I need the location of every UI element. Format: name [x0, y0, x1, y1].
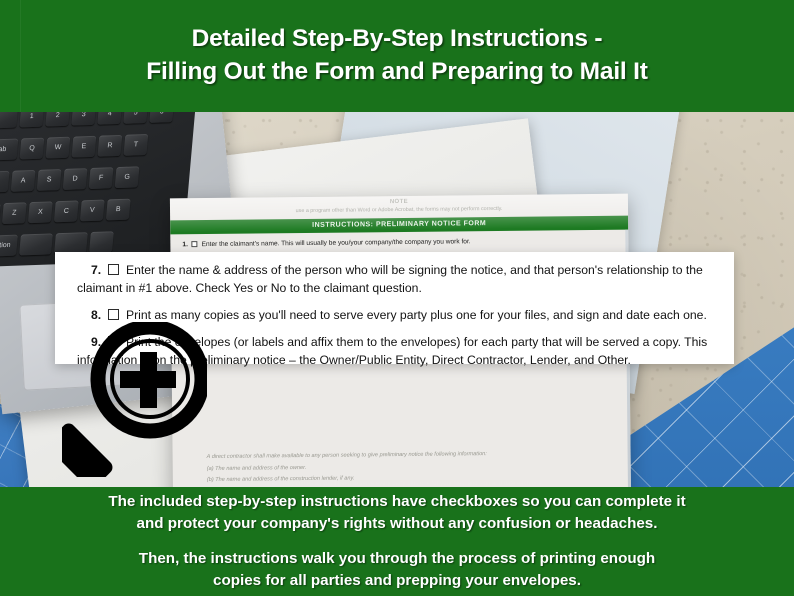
step-number: 7. [91, 263, 101, 277]
key-c: C [54, 200, 79, 222]
checkbox-icon[interactable] [108, 309, 119, 320]
bottom-banner: The included step-by-step instructions h… [0, 487, 794, 596]
document-note-body: use a program other than Word or Adobe A… [170, 203, 628, 217]
callout-step: 7. Enter the name & address of the perso… [77, 261, 716, 297]
key-d: D [63, 168, 88, 190]
key-x: X [28, 201, 53, 223]
step-text: Enter the claimant's name. This will usu… [202, 238, 471, 248]
key-command [19, 233, 53, 255]
key-e: E [71, 136, 96, 158]
document-step: 1. Enter the claimant's name. This will … [182, 235, 616, 250]
step-text: Print as many copies as you'll need to s… [126, 308, 707, 322]
key: 4 [97, 110, 122, 125]
key: 3 [71, 110, 96, 126]
step-text: Enter the name & address of the person w… [77, 263, 703, 295]
bottom-banner-line: copies for all parties and prepping your… [139, 570, 655, 592]
checkbox-icon[interactable] [108, 264, 119, 275]
laptop-keyboard: 1 2 3 4 5 6 tab Q W E R T lock A [0, 110, 197, 267]
keyboard-row-2: tab Q W E R T [0, 131, 197, 160]
key-v: V [80, 200, 105, 222]
keyboard-row-3: lock A S D F G [0, 164, 197, 193]
key-capslock: lock [0, 171, 10, 193]
callout-step: 9. Print the envelopes (or labels and af… [77, 333, 716, 369]
key-w: W [45, 137, 70, 159]
key-option: option [0, 235, 18, 257]
key-s: S [37, 169, 62, 191]
key-extra [89, 231, 114, 253]
step-number: 8. [91, 308, 101, 322]
key: 1 [19, 110, 44, 127]
key-tab: tab [0, 138, 18, 160]
callout-step: 8. Print as many copies as you'll need t… [77, 306, 716, 324]
key-q: Q [20, 138, 45, 160]
key-a: A [11, 170, 36, 192]
key-space [54, 232, 88, 254]
key-b: B [106, 199, 131, 221]
banner-seam [20, 0, 21, 112]
key-g: G [115, 166, 140, 188]
step-number: 9. [91, 335, 101, 349]
bottom-banner-line: Then, the instructions walk you through … [139, 548, 655, 570]
key: 5 [123, 110, 148, 124]
legal-line: A direct contractor shall make available… [207, 448, 619, 462]
top-banner-line-2: Filling Out the Form and Preparing to Ma… [146, 56, 647, 89]
key [0, 110, 18, 128]
checkbox-icon[interactable] [192, 241, 198, 247]
bottom-banner-paragraph-2: Then, the instructions walk you through … [139, 548, 655, 592]
key-z: Z [2, 202, 27, 224]
step-text: Print the envelopes (or labels and affix… [77, 335, 707, 367]
key-shift: ^ [0, 203, 1, 225]
promo-graphic: 1 2 3 4 5 6 tab Q W E R T lock A [0, 0, 794, 596]
zoom-callout-panel: 7. Enter the name & address of the perso… [55, 252, 734, 364]
step-number: 1. [182, 241, 188, 248]
key-f: F [89, 167, 114, 189]
keyboard-row-1: 1 2 3 4 5 6 [0, 110, 197, 128]
key: 2 [45, 110, 70, 127]
bottom-banner-paragraph-1: The included step-by-step instructions h… [108, 491, 685, 535]
keyboard-row-4: ^ Z X C V B [0, 196, 197, 225]
top-banner: Detailed Step-By-Step Instructions - Fil… [0, 0, 794, 112]
top-banner-line-1: Detailed Step-By-Step Instructions - [192, 23, 603, 56]
key-t: T [123, 134, 148, 156]
key-r: R [97, 135, 122, 157]
bottom-banner-line: The included step-by-step instructions h… [108, 491, 685, 513]
checkbox-icon[interactable] [108, 336, 119, 347]
bottom-banner-line: and protect your company's rights withou… [108, 513, 685, 535]
